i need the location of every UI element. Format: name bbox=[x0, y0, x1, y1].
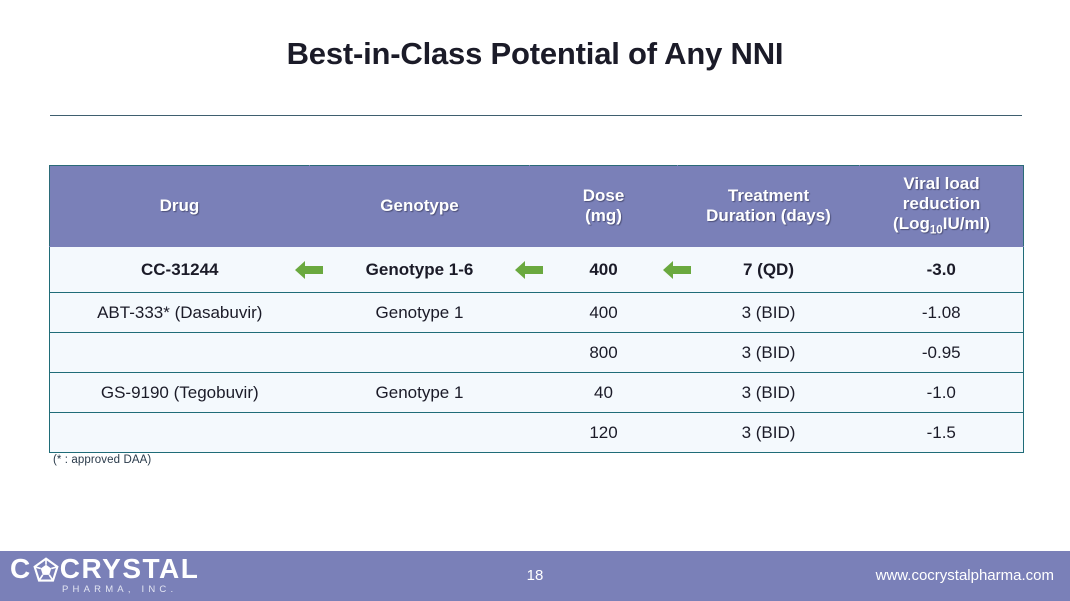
table-cell-dose: 40 bbox=[530, 373, 678, 413]
table-cell-genotype bbox=[310, 413, 530, 453]
title-divider bbox=[50, 115, 1022, 116]
table-cell-genotype: Genotype 1 bbox=[310, 373, 530, 413]
drug-comparison-table: Drug Genotype Dose (mg) Treatment Durati… bbox=[49, 165, 1024, 453]
cell-value-dose: 120 bbox=[589, 423, 617, 443]
table-header-row: Drug Genotype Dose (mg) Treatment Durati… bbox=[50, 166, 1024, 247]
cell-value-genotype: Genotype 1-6 bbox=[366, 260, 474, 280]
table-row: CC-31244Genotype 1-64007 (QD)-3.0 bbox=[50, 247, 1024, 293]
column-header-dose-line2: (mg) bbox=[585, 206, 622, 225]
cell-content: -0.95 bbox=[864, 343, 1020, 363]
table-cell-drug bbox=[50, 333, 310, 373]
table-cell-duration: 3 (BID) bbox=[678, 373, 860, 413]
table-cell-drug: GS-9190 (Tegobuvir) bbox=[50, 373, 310, 413]
cell-content: 7 (QD) bbox=[682, 260, 856, 280]
table-cell-duration: 3 (BID) bbox=[678, 293, 860, 333]
cell-value-dose: 800 bbox=[589, 343, 617, 363]
column-header-duration-line1: Treatment bbox=[728, 186, 809, 205]
cell-content: 120 bbox=[534, 423, 674, 443]
cell-content: 400 bbox=[534, 260, 674, 280]
cell-value-drug: GS-9190 (Tegobuvir) bbox=[101, 383, 259, 403]
table-cell-genotype bbox=[310, 333, 530, 373]
table-cell-duration: 3 (BID) bbox=[678, 333, 860, 373]
cell-content: Genotype 1 bbox=[314, 383, 526, 403]
table-cell-drug: ABT-333* (Dasabuvir) bbox=[50, 293, 310, 333]
cell-value-viral: -1.0 bbox=[927, 383, 956, 403]
table-body: CC-31244Genotype 1-64007 (QD)-3.0ABT-333… bbox=[50, 247, 1024, 453]
table-row: GS-9190 (Tegobuvir)Genotype 1403 (BID)-1… bbox=[50, 373, 1024, 413]
comparison-table-container: Drug Genotype Dose (mg) Treatment Durati… bbox=[49, 165, 1023, 453]
cell-content: -3.0 bbox=[864, 260, 1020, 280]
table-cell-viral: -1.08 bbox=[860, 293, 1024, 333]
table-header: Drug Genotype Dose (mg) Treatment Durati… bbox=[50, 166, 1024, 247]
table-cell-viral: -1.5 bbox=[860, 413, 1024, 453]
cell-content: 800 bbox=[534, 343, 674, 363]
table-cell-viral: -0.95 bbox=[860, 333, 1024, 373]
table-cell-dose: 400 bbox=[530, 293, 678, 333]
column-header-duration: Treatment Duration (days) bbox=[678, 166, 860, 247]
table-cell-duration: 7 (QD) bbox=[678, 247, 860, 293]
table-cell-duration: 3 (BID) bbox=[678, 413, 860, 453]
cell-value-duration: 3 (BID) bbox=[742, 343, 796, 363]
cell-content: 400 bbox=[534, 303, 674, 323]
table-row: ABT-333* (Dasabuvir)Genotype 14003 (BID)… bbox=[50, 293, 1024, 333]
table-cell-viral: -3.0 bbox=[860, 247, 1024, 293]
table-row: 8003 (BID)-0.95 bbox=[50, 333, 1024, 373]
cell-value-dose: 40 bbox=[594, 383, 613, 403]
company-website: www.cocrystalpharma.com bbox=[876, 567, 1054, 584]
cell-value-duration: 7 (QD) bbox=[743, 260, 794, 280]
column-header-viral-load: Viral load reduction (Log10IU/ml) bbox=[860, 166, 1024, 247]
viral-unit-subscript: 10 bbox=[930, 224, 943, 236]
table-cell-drug bbox=[50, 413, 310, 453]
table-cell-drug: CC-31244 bbox=[50, 247, 310, 293]
cell-content: 40 bbox=[534, 383, 674, 403]
cell-content: 3 (BID) bbox=[682, 423, 856, 443]
cell-value-dose: 400 bbox=[589, 303, 617, 323]
cell-content: -1.0 bbox=[864, 383, 1020, 403]
column-header-viral-line1: Viral load bbox=[903, 174, 979, 193]
cell-value-dose: 400 bbox=[589, 260, 617, 280]
cell-content: CC-31244 bbox=[54, 260, 306, 280]
cell-value-genotype: Genotype 1 bbox=[376, 303, 464, 323]
column-header-viral-line2: reduction bbox=[903, 194, 980, 213]
cell-value-duration: 3 (BID) bbox=[742, 383, 796, 403]
cell-value-drug: ABT-333* (Dasabuvir) bbox=[97, 303, 262, 323]
column-header-genotype: Genotype bbox=[310, 166, 530, 247]
cell-value-duration: 3 (BID) bbox=[742, 423, 796, 443]
viral-unit-suffix: IU/ml) bbox=[943, 214, 990, 233]
cell-content: ABT-333* (Dasabuvir) bbox=[54, 303, 306, 323]
cell-content: Genotype 1 bbox=[314, 303, 526, 323]
viral-unit-prefix: (Log bbox=[893, 214, 930, 233]
column-header-dose: Dose (mg) bbox=[530, 166, 678, 247]
cell-value-viral: -1.08 bbox=[922, 303, 961, 323]
cell-content: 3 (BID) bbox=[682, 343, 856, 363]
table-cell-dose: 800 bbox=[530, 333, 678, 373]
table-cell-dose: 120 bbox=[530, 413, 678, 453]
table-cell-genotype: Genotype 1-6 bbox=[310, 247, 530, 293]
cell-content: GS-9190 (Tegobuvir) bbox=[54, 383, 306, 403]
cell-content: 3 (BID) bbox=[682, 383, 856, 403]
column-header-genotype-label: Genotype bbox=[380, 196, 458, 215]
cell-value-genotype: Genotype 1 bbox=[376, 383, 464, 403]
column-header-duration-line2: Duration (days) bbox=[706, 206, 831, 225]
cell-value-viral: -1.5 bbox=[927, 423, 956, 443]
logo-subtitle: PHARMA, INC. bbox=[62, 584, 250, 595]
column-header-dose-line1: Dose bbox=[583, 186, 625, 205]
cell-value-viral: -3.0 bbox=[927, 260, 956, 280]
slide-footer: C CRYSTAL PHARMA, INC. 18 www.cocrystalp… bbox=[0, 551, 1070, 601]
cell-value-drug: CC-31244 bbox=[141, 260, 219, 280]
table-cell-viral: -1.0 bbox=[860, 373, 1024, 413]
cell-content: 3 (BID) bbox=[682, 303, 856, 323]
column-header-viral-line3: (Log10IU/ml) bbox=[893, 214, 990, 233]
cell-value-viral: -0.95 bbox=[922, 343, 961, 363]
cell-value-duration: 3 (BID) bbox=[742, 303, 796, 323]
cell-content: -1.5 bbox=[864, 423, 1020, 443]
table-row: 1203 (BID)-1.5 bbox=[50, 413, 1024, 453]
table-footnote: (* : approved DAA) bbox=[53, 454, 151, 466]
table-cell-genotype: Genotype 1 bbox=[310, 293, 530, 333]
cell-content: Genotype 1-6 bbox=[314, 260, 526, 280]
column-header-drug-label: Drug bbox=[160, 196, 200, 215]
page-title: Best-in-Class Potential of Any NNI bbox=[0, 36, 1070, 72]
table-cell-dose: 400 bbox=[530, 247, 678, 293]
cell-content: -1.08 bbox=[864, 303, 1020, 323]
column-header-drug: Drug bbox=[50, 166, 310, 247]
